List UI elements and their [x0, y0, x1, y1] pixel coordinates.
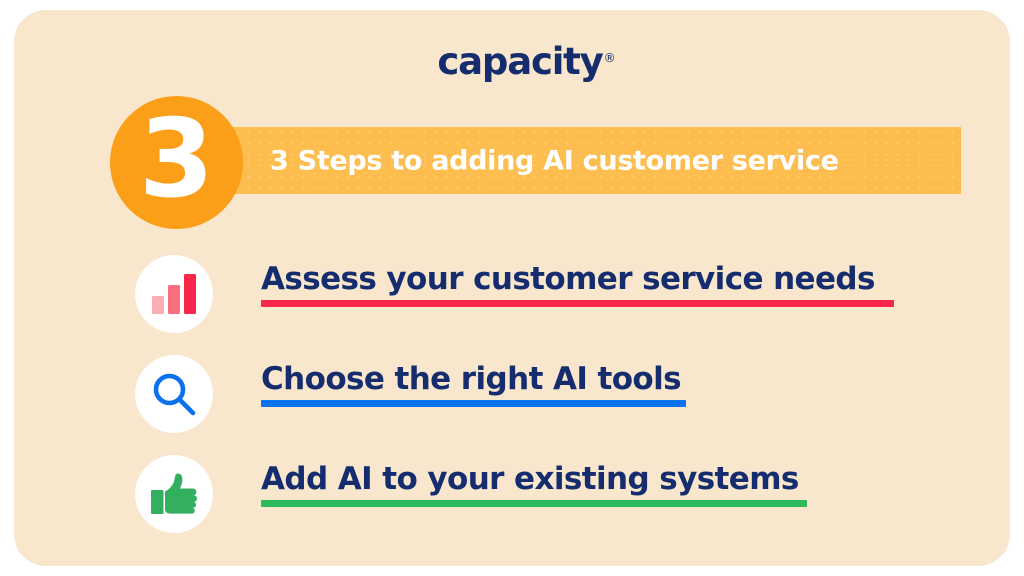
- thumbs-up-icon: [135, 455, 213, 533]
- step-text-block: Choose the right AI tools: [261, 363, 686, 407]
- bar-chart-icon: [135, 255, 213, 333]
- step-text-block: Assess your customer service needs: [261, 263, 894, 307]
- content-card: capacity® 3 Steps to adding AI customer …: [14, 10, 1010, 566]
- brand-name: capacity: [437, 43, 602, 80]
- step-text-block: Add AI to your existing systems: [261, 463, 807, 507]
- slide-canvas: capacity® 3 Steps to adding AI customer …: [0, 0, 1024, 576]
- magnifying-glass-icon: [135, 355, 213, 433]
- brand-logo: capacity®: [14, 43, 1024, 80]
- registered-trademark-icon: ®: [604, 52, 616, 64]
- list-item: Assess your customer service needs: [14, 255, 1024, 355]
- headline-title: 3 Steps to adding AI customer service: [270, 145, 839, 176]
- list-item: Choose the right AI tools: [14, 355, 1024, 455]
- step-count-number: 3: [110, 96, 243, 229]
- step-count-badge: 3: [110, 96, 243, 229]
- headline-banner: 3 Steps to adding AI customer service: [210, 127, 961, 194]
- step-label[interactable]: Add AI to your existing systems: [261, 463, 807, 496]
- step-underline: [261, 300, 894, 307]
- step-label[interactable]: Choose the right AI tools: [261, 363, 686, 396]
- list-item: Add AI to your existing systems: [14, 455, 1024, 555]
- step-underline: [261, 500, 807, 507]
- step-underline: [261, 400, 686, 407]
- steps-list: Assess your customer service needs Choos…: [14, 255, 1024, 555]
- step-label[interactable]: Assess your customer service needs: [261, 263, 894, 296]
